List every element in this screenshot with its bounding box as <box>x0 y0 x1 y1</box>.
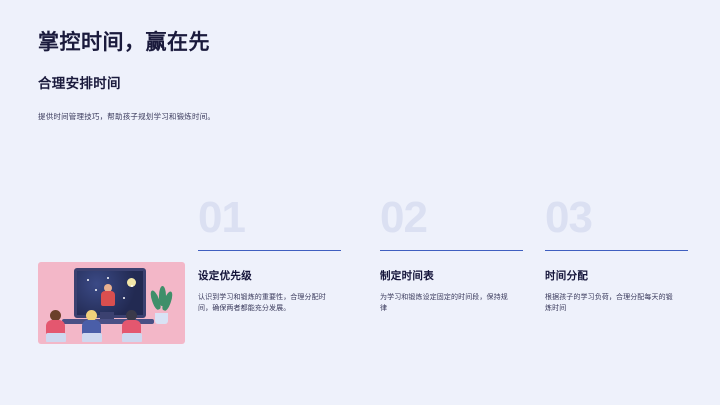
laptop-icon <box>46 333 66 342</box>
page-subtitle: 合理安排时间 <box>38 72 121 92</box>
feature-column-2: 02 制定时间表 为学习和锻炼设定固定的时间段，保持规律 <box>380 196 526 315</box>
star-icon <box>95 289 97 291</box>
step-heading: 制定时间表 <box>380 268 526 283</box>
teacher-avatar <box>101 284 115 306</box>
lead-paragraph: 提供时间管理技巧，帮助孩子规划学习和锻炼时间。 <box>38 111 215 122</box>
feature-column-3: 03 时间分配 根据孩子的学习负荷，合理分配每天的锻炼时间 <box>545 196 691 315</box>
star-icon <box>107 277 109 279</box>
step-body: 为学习和锻炼设定固定的时间段，保持规律 <box>380 292 512 315</box>
divider <box>545 250 688 251</box>
plant-icon <box>150 284 172 324</box>
step-body: 根据孩子的学习负荷，合理分配每天的锻炼时间 <box>545 292 677 315</box>
laptop-icon <box>82 333 102 342</box>
step-body: 认识到学习和锻炼的重要性，合理分配时间，确保两者都能充分发展。 <box>198 292 330 315</box>
step-number: 02 <box>380 196 526 240</box>
divider <box>380 250 523 251</box>
plant-pot <box>155 313 168 324</box>
star-icon <box>87 279 89 281</box>
star-icon <box>123 297 125 299</box>
slide: 掌控时间，赢在先 合理安排时间 提供时间管理技巧，帮助孩子规划学习和锻炼时间。 <box>0 0 720 405</box>
kids-studying-at-computer-illustration <box>38 262 185 344</box>
step-heading: 时间分配 <box>545 268 691 283</box>
step-heading: 设定优先级 <box>198 268 344 283</box>
star-icon <box>131 285 133 287</box>
divider <box>198 250 341 251</box>
step-number: 01 <box>198 196 344 240</box>
step-number: 03 <box>545 196 691 240</box>
laptop-icon <box>122 333 142 342</box>
avatar-body <box>101 291 115 306</box>
feature-column-1: 01 设定优先级 认识到学习和锻炼的重要性，合理分配时间，确保两者都能充分发展。 <box>198 196 344 315</box>
page-title: 掌控时间，赢在先 <box>38 26 210 56</box>
